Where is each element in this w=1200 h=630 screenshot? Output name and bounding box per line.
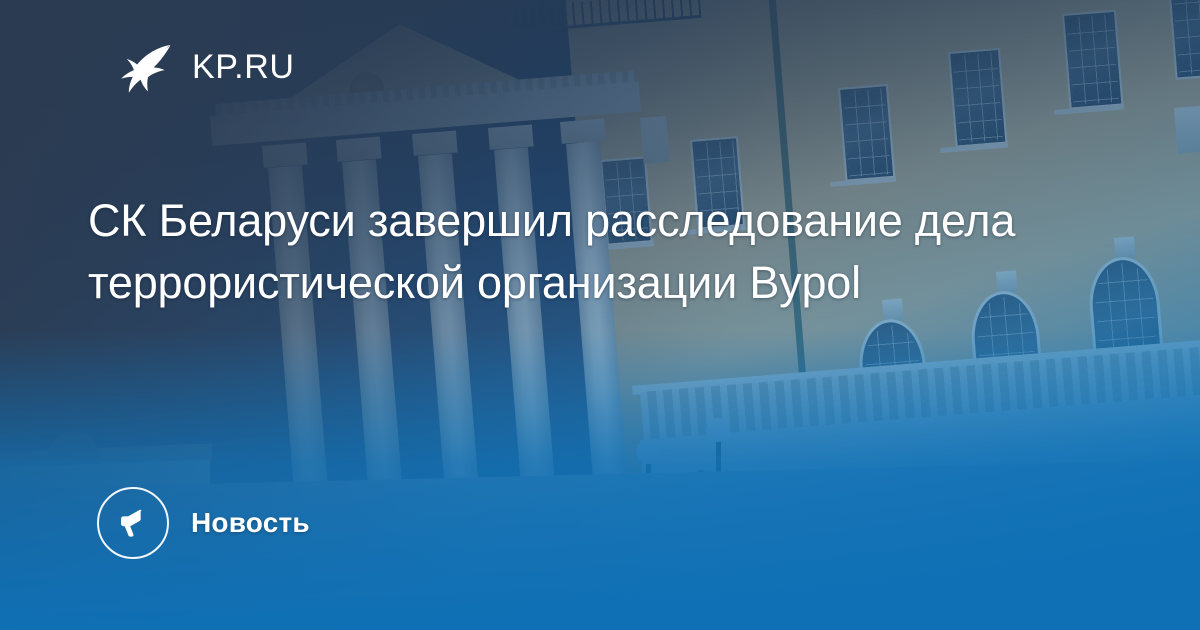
brand-name: KP.RU [192,50,295,84]
swallow-bird-icon [110,36,172,98]
status-badge[interactable]: Новость [97,487,310,559]
card-content: KP.RU СК Беларуси завершил расследование… [0,0,1200,630]
megaphone-icon [97,487,169,559]
news-share-card: KP.RU СК Беларуси завершил расследование… [0,0,1200,630]
badge-label: Новость [191,507,310,539]
page-title: СК Беларуси завершил расследование дела … [88,190,1018,314]
brand-lockup[interactable]: KP.RU [110,36,295,98]
